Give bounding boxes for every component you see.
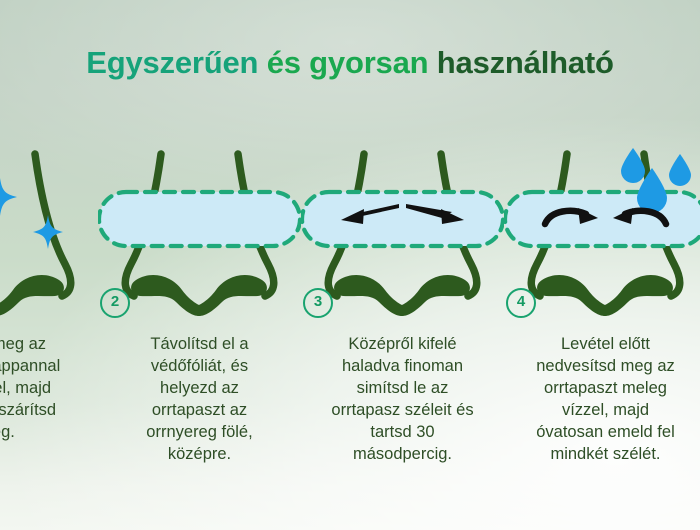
step-3-illustration: 3	[301, 140, 504, 320]
step-1-caption: Mosd meg az orrod szappannal és vízzel, …	[0, 334, 98, 444]
infographic-root: Egyszerűen és gyorsan használható	[0, 0, 700, 530]
nasal-strip-icon	[302, 192, 503, 246]
water-droplet-icon	[669, 154, 691, 186]
nose-outline-icon	[0, 154, 71, 296]
steps-row: 1 Mosd meg az orrod szappannal és vízzel…	[0, 140, 700, 466]
step-2-caption: Távolítsd el a védőfóliát, és helyezd az…	[98, 334, 301, 466]
nasal-strip-icon	[505, 192, 700, 246]
step-3: 3 Középről kifelé haladva finoman simíts…	[301, 140, 504, 466]
step-2: 2 Távolítsd el a védőfóliát, és helyezd …	[98, 140, 301, 466]
step-badge-3: 3	[303, 288, 333, 318]
title-segment-2: és gyorsan	[267, 45, 437, 80]
step-badge-4: 4	[506, 288, 536, 318]
title-segment-1: Egyszerűen	[86, 45, 266, 80]
nostril-shapes	[0, 275, 64, 316]
sparkle-icon	[0, 178, 17, 216]
nostril-shapes	[537, 275, 673, 316]
step-3-caption: Középről kifelé haladva finoman simítsd …	[301, 334, 504, 466]
nostril-shapes	[131, 275, 267, 316]
page-title: Egyszerűen és gyorsan használható	[0, 46, 700, 80]
step-badge-2: 2	[100, 288, 130, 318]
step-1: 1 Mosd meg az orrod szappannal és vízzel…	[0, 140, 98, 466]
nostril-shapes	[334, 275, 470, 316]
step-2-illustration: 2	[98, 140, 301, 320]
nasal-strip-icon	[99, 192, 300, 246]
title-segment-3: használható	[437, 45, 614, 80]
step-4: 4 Levétel előtt nedvesítsd meg az orrtap…	[504, 140, 700, 466]
step-4-illustration: 4	[504, 140, 700, 320]
step-1-illustration: 1	[0, 140, 98, 320]
step-4-caption: Levétel előtt nedvesítsd meg az orrtapas…	[504, 334, 700, 466]
